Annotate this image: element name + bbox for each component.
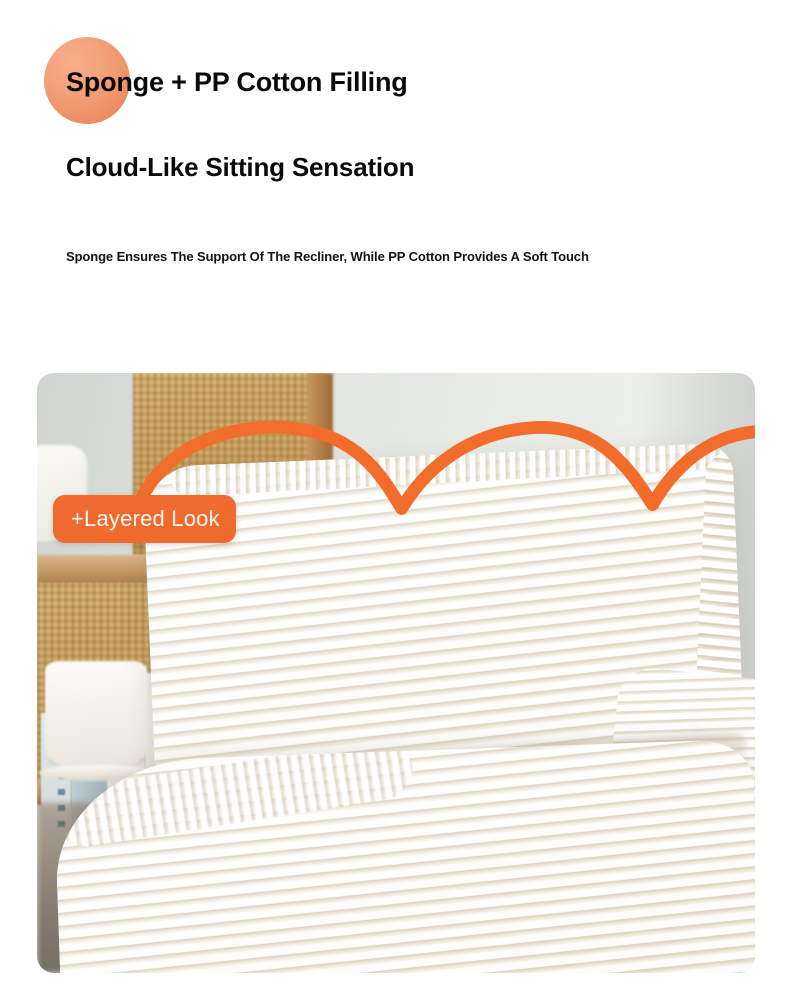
layered-look-badge[interactable]: +Layered Look <box>53 495 236 543</box>
page-title: Sponge + PP Cotton Filling <box>66 66 408 100</box>
page-subtitle: Cloud-Like Sitting Sensation <box>66 151 414 184</box>
header-block: Sponge + PP Cotton Filling Cloud-Like Si… <box>0 0 790 373</box>
seat-cushion <box>53 739 755 973</box>
feature-description: Sponge Ensures The Support Of The Reclin… <box>66 249 589 266</box>
product-feature-page: Sponge + PP Cotton Filling Cloud-Like Si… <box>0 0 790 988</box>
product-photo: 读书 Urbn <box>37 373 755 973</box>
photo-stage: 读书 Urbn <box>37 373 755 973</box>
scene-vase <box>45 661 147 773</box>
